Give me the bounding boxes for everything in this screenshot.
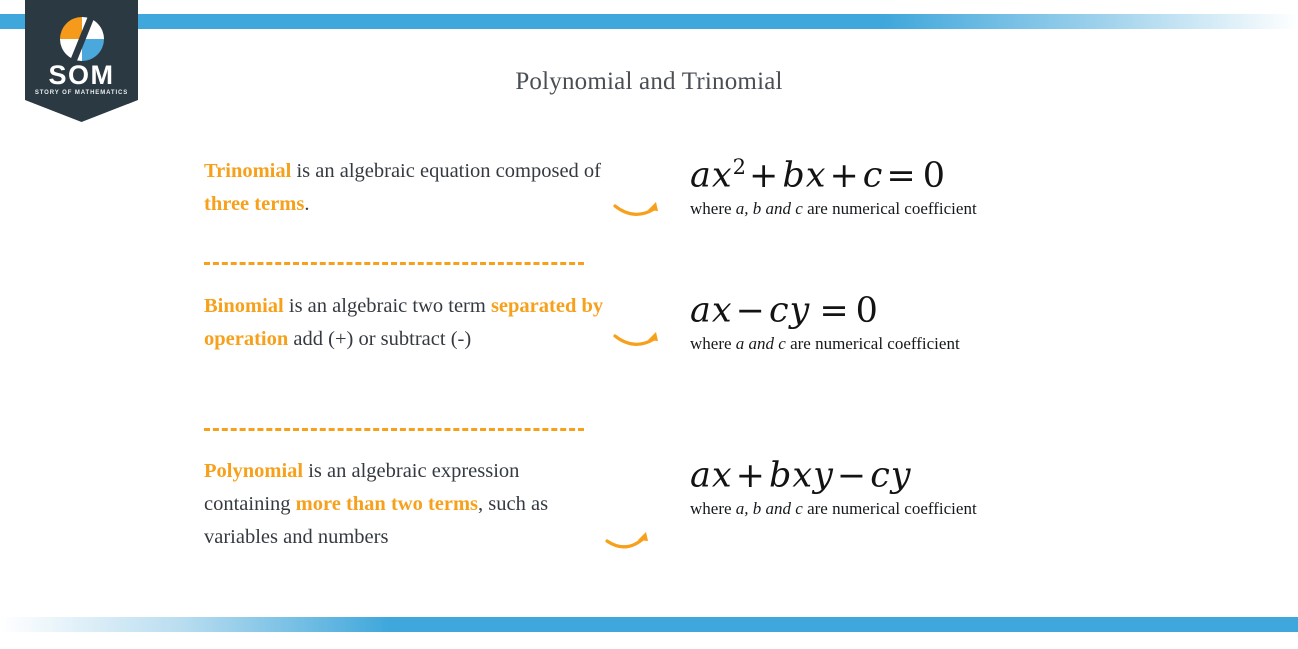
term-emphasis: more than two terms [296, 493, 478, 515]
note-suffix: are numerical coefficient [803, 199, 977, 218]
term-emphasis: three terms [204, 193, 304, 215]
definition-tail-text: add (+) or subtract (-) [288, 328, 471, 350]
equation-operator-1: − [733, 291, 769, 331]
term-keyword: Polynomial [204, 460, 303, 482]
definition-text-trinomial: Trinomial is an algebraic equation compo… [204, 155, 604, 221]
definition-mid-text: is an algebraic equation composed of [291, 160, 601, 182]
som-emblem-icon [57, 14, 107, 64]
section-divider-2 [204, 428, 584, 431]
som-logo-badge[interactable]: SOM STORY OF MATHEMATICS [25, 0, 138, 122]
equation-term-3: cy [870, 456, 911, 496]
equation-term-1: ax [690, 456, 733, 496]
equation-term-1: ax [690, 291, 733, 331]
equation-rhs: 0 [920, 156, 949, 196]
equation-block-binomial: ax−cy=0 where a and c are numerical coef… [690, 290, 1250, 354]
term-keyword: Trinomial [204, 160, 291, 182]
section-divider-1 [204, 262, 584, 265]
equation-polynomial: ax+bxy−cy [690, 455, 1250, 497]
slide-canvas: SOM STORY OF MATHEMATICS Polynomial and … [0, 0, 1298, 649]
top-accent-bar [0, 14, 1298, 29]
equation-operator-2: + [826, 156, 862, 196]
term-keyword: Binomial [204, 295, 284, 317]
equation-block-trinomial: ax2+bx+c=0 where a, b and c are numerica… [690, 155, 1250, 219]
note-variables: a, b and c [736, 199, 803, 218]
note-variables: a and c [736, 334, 786, 353]
equation-note-binomial: where a and c are numerical coefficient [690, 334, 1250, 354]
note-prefix: where [690, 334, 736, 353]
equation-rhs [918, 456, 924, 496]
equation-binomial: ax−cy=0 [690, 290, 1250, 332]
logo-wordmark: SOM [25, 62, 138, 89]
equation-term-2: bxy [769, 456, 834, 496]
equation-rhs: 0 [853, 291, 882, 331]
equation-block-polynomial: ax+bxy−cy where a, b and c are numerical… [690, 455, 1250, 519]
note-prefix: where [690, 199, 736, 218]
logo-tagline: STORY OF MATHEMATICS [25, 90, 138, 96]
definition-mid-text: is an algebraic two term [284, 295, 491, 317]
note-prefix: where [690, 499, 736, 518]
equation-term-2: cy [769, 291, 810, 331]
note-variables: a, b and c [736, 499, 803, 518]
equation-term-3: c [863, 156, 884, 196]
curved-arrow-icon [612, 327, 664, 353]
definition-text-binomial: Binomial is an algebraic two term separa… [204, 290, 604, 356]
equation-term-1: ax [690, 156, 733, 196]
equation-exponent: 2 [733, 155, 746, 179]
equation-equals: = [816, 291, 852, 331]
note-suffix: are numerical coefficient [786, 334, 960, 353]
page-title: Polynomial and Trinomial [0, 68, 1298, 96]
equation-equals [912, 456, 918, 496]
equation-operator-1: + [746, 156, 782, 196]
bottom-accent-bar [0, 617, 1298, 632]
equation-note-trinomial: where a, b and c are numerical coefficie… [690, 199, 1250, 219]
curved-arrow-icon [604, 530, 656, 556]
equation-operator-1: + [733, 456, 769, 496]
equation-equals: = [883, 156, 919, 196]
equation-trinomial: ax2+bx+c=0 [690, 155, 1250, 197]
definition-tail-text: . [304, 193, 309, 215]
equation-note-polynomial: where a, b and c are numerical coefficie… [690, 499, 1250, 519]
note-suffix: are numerical coefficient [803, 499, 977, 518]
definition-text-polynomial: Polynomial is an algebraic expression co… [204, 455, 604, 554]
curved-arrow-icon [612, 197, 664, 223]
equation-operator-2: − [834, 456, 870, 496]
equation-term-2: bx [782, 156, 826, 196]
